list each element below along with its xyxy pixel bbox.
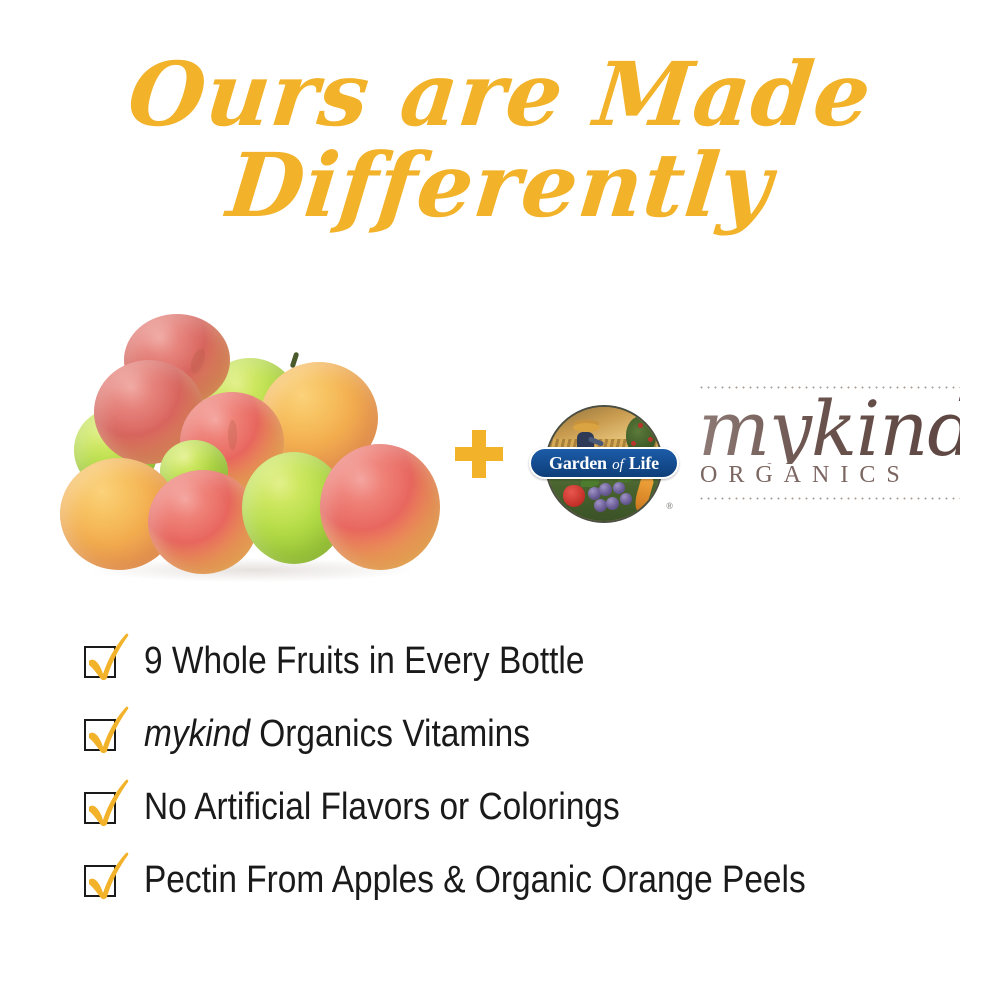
badge-grape-icon (606, 497, 619, 510)
badge-grape-icon (620, 493, 632, 505)
badge-name-part2: Life (629, 453, 659, 473)
badge-grape-icon (613, 482, 625, 494)
list-item[interactable]: No Artificial Flavors or Colorings (84, 771, 984, 844)
badge-grape-icon (594, 499, 607, 512)
check-icon (83, 704, 131, 754)
headline-line-2: Differently (0, 143, 1000, 228)
check-icon (83, 631, 131, 681)
badge-name-text: Garden of Life (549, 453, 659, 474)
fruit-pile-image (52, 300, 448, 590)
checkbox-1[interactable] (84, 646, 116, 678)
check-icon (83, 850, 131, 900)
headline-line-1: Ours are Made (0, 52, 1000, 137)
list-item-label: Pectin From Apples & Organic Orange Peel… (144, 859, 806, 902)
mykind-wordmark: mykind (698, 393, 960, 464)
infographic-canvas: Ours are Made Differently (0, 0, 1000, 1000)
registered-trademark-icon: ® (666, 501, 673, 511)
peach-crease (228, 420, 237, 450)
check-icon (83, 777, 131, 827)
mykind-organics-logo: mykind ORGANICS (698, 386, 960, 500)
plus-icon (455, 430, 503, 478)
garden-of-life-logo: Garden of Life ® (545, 405, 663, 523)
list-item-label: mykind Organics Vitamins (144, 713, 530, 756)
badge-berry-icon (648, 437, 653, 442)
badge-farmer-hat-icon (573, 423, 600, 432)
checkbox-2[interactable] (84, 719, 116, 751)
peach-icon (320, 444, 440, 570)
peach-icon (148, 470, 258, 574)
list-item[interactable]: 9 Whole Fruits in Every Bottle (84, 625, 984, 698)
badge-name-part1: Garden (549, 453, 607, 473)
list-item-label: No Artificial Flavors or Colorings (144, 786, 620, 829)
list-item[interactable]: Pectin From Apples & Organic Orange Peel… (84, 844, 984, 917)
list-item-text: Pectin From Apples & Organic Orange Peel… (144, 859, 806, 901)
list-item-text: 9 Whole Fruits in Every Bottle (144, 640, 584, 682)
badge-name-of: of (611, 457, 624, 473)
list-item-text: No Artificial Flavors or Colorings (144, 786, 620, 828)
list-item-text: Organics Vitamins (250, 713, 530, 755)
list-item-emphasis: mykind (144, 713, 250, 755)
badge-name-banner: Garden of Life (529, 447, 679, 479)
dotted-rule-bottom (698, 497, 960, 500)
badge-berry-icon (638, 423, 643, 428)
checkbox-4[interactable] (84, 865, 116, 897)
list-item-label: 9 Whole Fruits in Every Bottle (144, 640, 584, 683)
checkbox-3[interactable] (84, 792, 116, 824)
benefits-checklist: 9 Whole Fruits in Every Bottle mykind Or… (84, 625, 984, 917)
page-title: Ours are Made Differently (0, 52, 1000, 229)
dotted-rule-top (698, 386, 960, 389)
list-item[interactable]: mykind Organics Vitamins (84, 698, 984, 771)
